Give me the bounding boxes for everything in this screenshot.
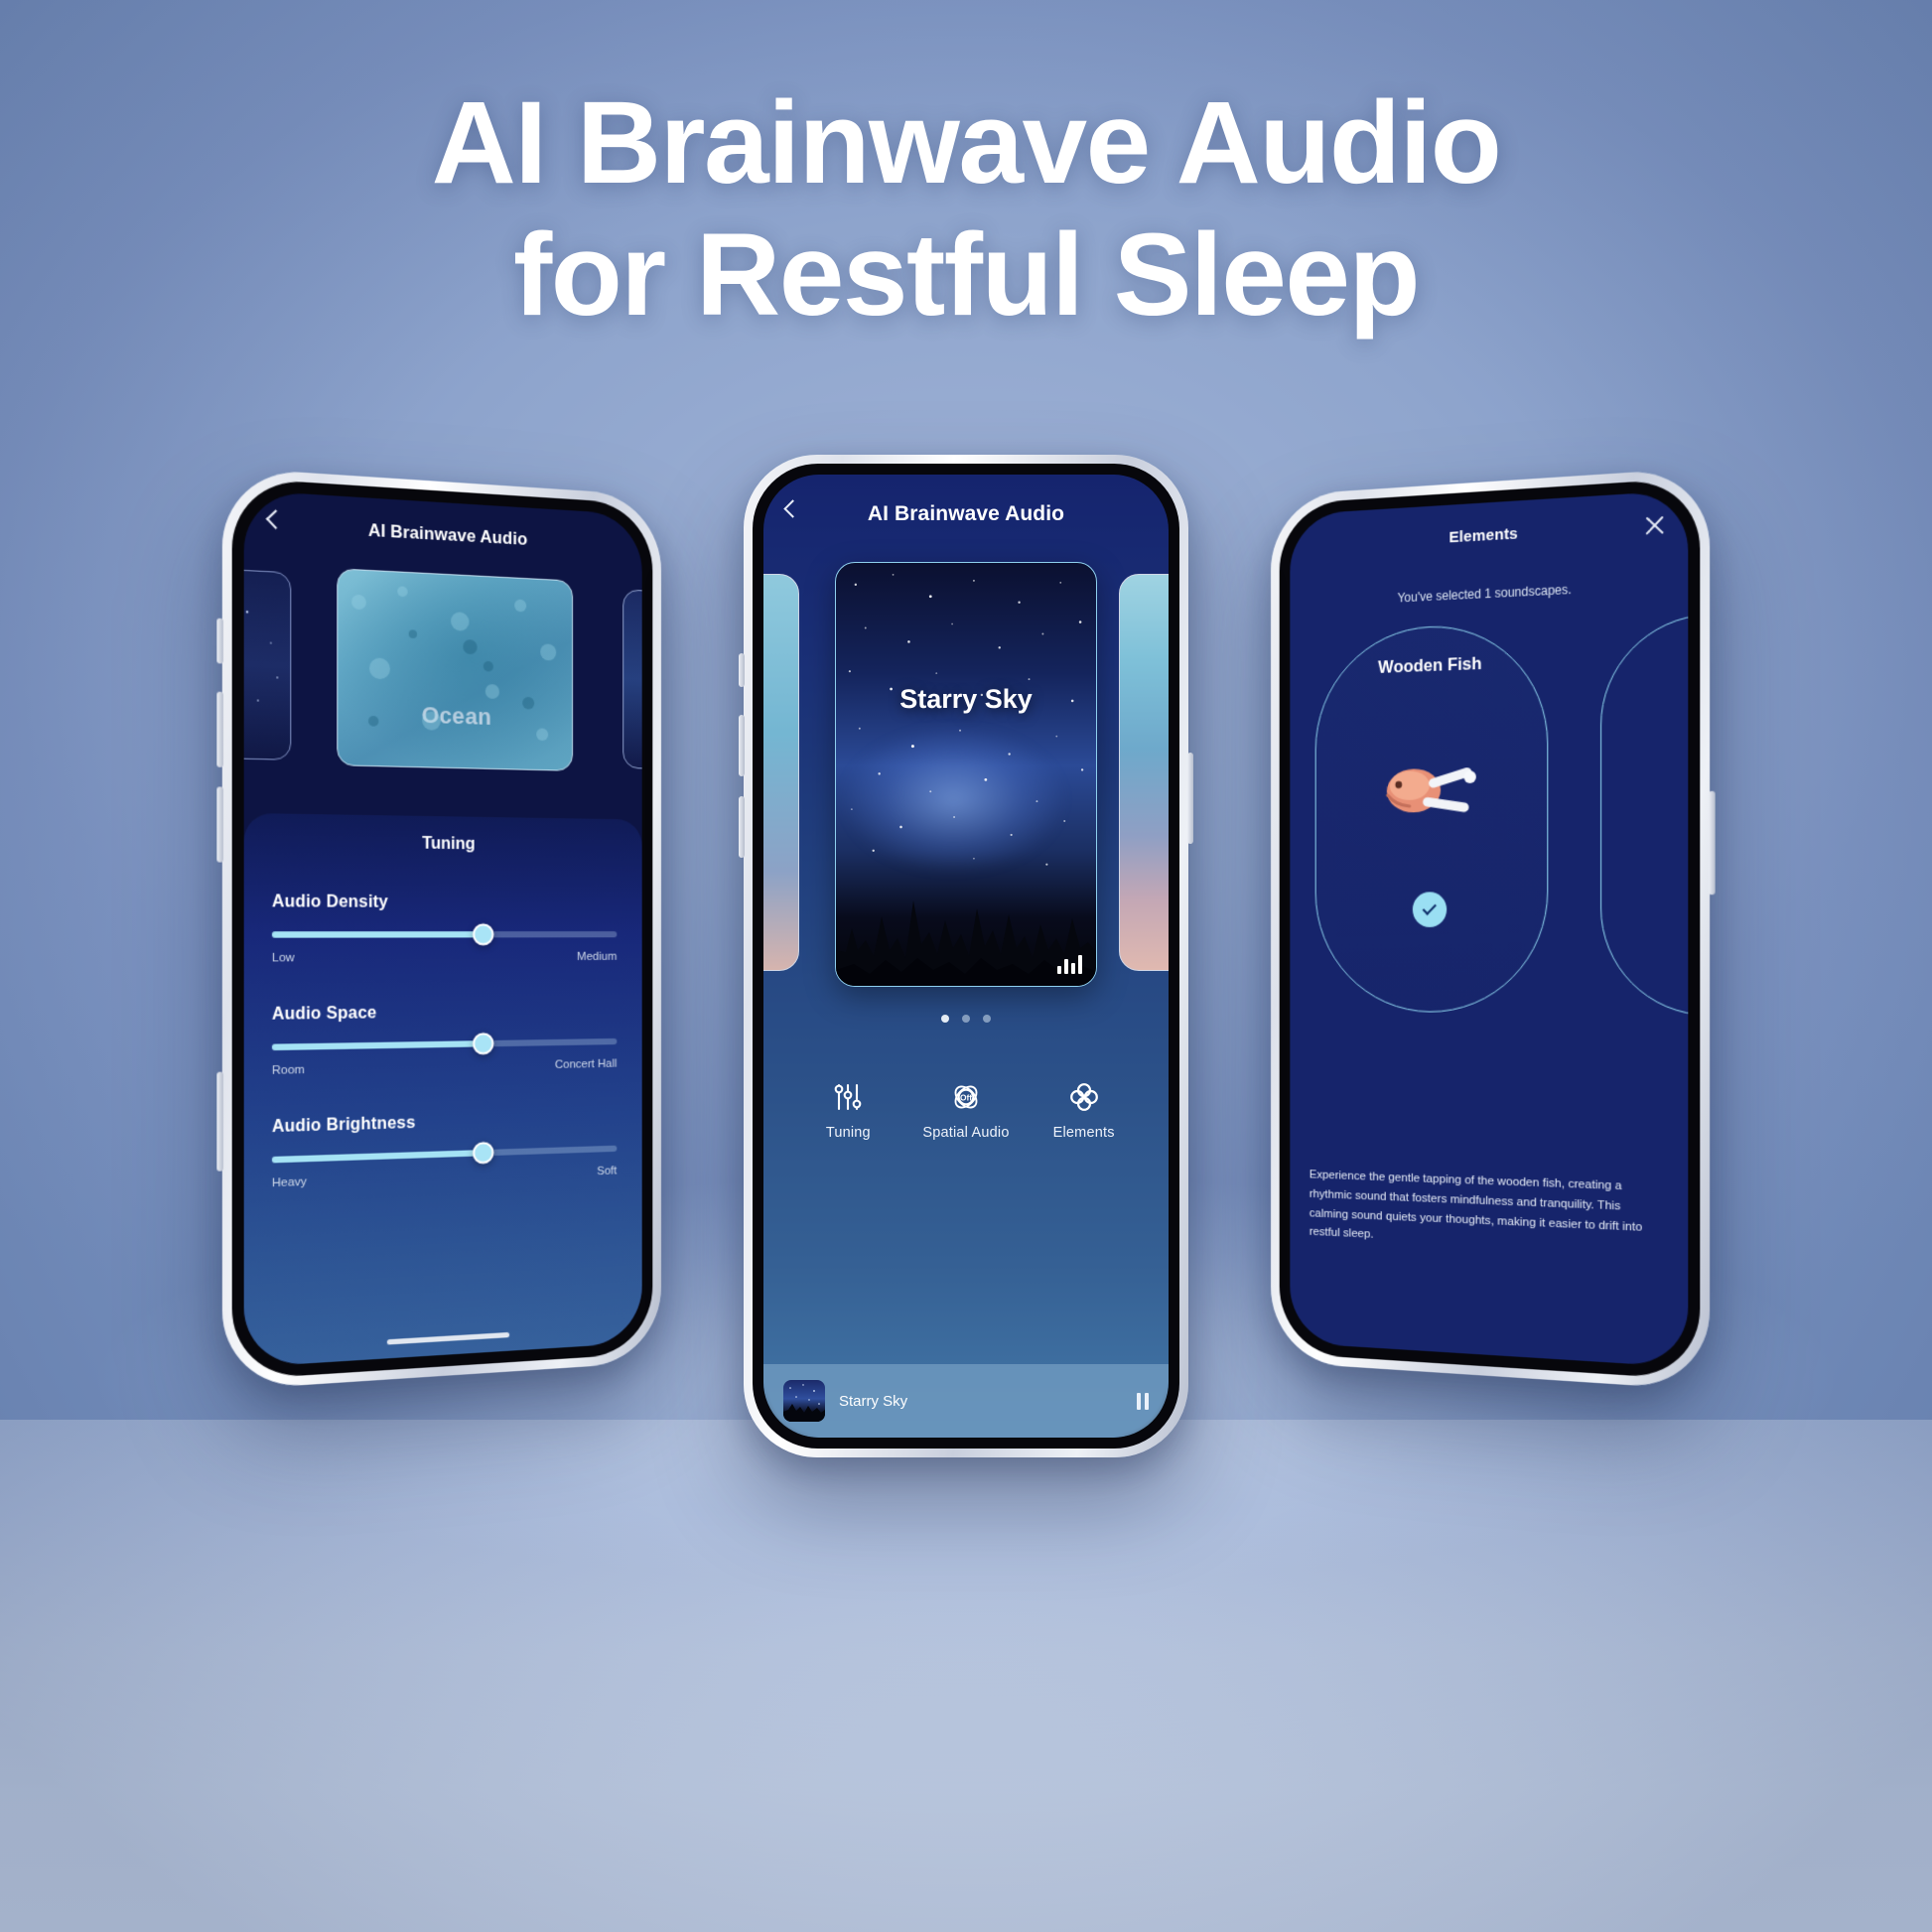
spatial-audio-button[interactable]: Off Spatial Audio: [911, 1080, 1021, 1141]
power-button[interactable]: [1187, 753, 1193, 844]
phone-screen-right: Elements You've selected 1 soundscapes. …: [1290, 490, 1688, 1368]
chevron-left-icon: [783, 499, 801, 517]
soundscape-card-starry-sky[interactable]: Starry Sky: [835, 562, 1097, 987]
action-label: Spatial Audio: [922, 1125, 1009, 1141]
chevron-left-icon: [266, 509, 286, 529]
soundscape-card-next[interactable]: [1119, 574, 1169, 971]
svg-text:Off: Off: [960, 1092, 972, 1102]
spatial-audio-off-icon: Off: [949, 1080, 983, 1114]
slider-scale: Room Concert Hall: [272, 1057, 617, 1077]
slider-track[interactable]: [272, 1146, 617, 1164]
phone-screen-center: AI Brainwave Audio: [763, 475, 1169, 1438]
slider-label: Audio Density: [272, 893, 617, 912]
element-description: Experience the gentle tapping of the woo…: [1310, 1166, 1667, 1259]
element-select-button[interactable]: [1413, 892, 1447, 927]
soundscape-carousel[interactable]: Ocean: [244, 563, 642, 772]
soundscape-card-next[interactable]: [622, 589, 641, 770]
nav-title: AI Brainwave Audio: [868, 502, 1064, 526]
elements-list: Wooden Fish: [1290, 615, 1688, 1024]
starfield-decor-icon: [244, 566, 292, 760]
soundscape-card-prev[interactable]: [763, 574, 799, 971]
equalizer-icon: [1057, 954, 1082, 974]
close-icon: [1643, 513, 1667, 538]
phone-bezel: Elements You've selected 1 soundscapes. …: [1280, 478, 1701, 1380]
slider-label: Audio Brightness: [272, 1109, 617, 1138]
phone-bezel: AI Brainwave Audio: [232, 478, 653, 1380]
slider-audio-density[interactable]: Audio Density Low Medium: [272, 893, 617, 964]
selection-status: You've selected 1 soundscapes.: [1290, 576, 1688, 610]
carousel-dot[interactable]: [983, 1015, 991, 1023]
power-button[interactable]: [216, 1072, 223, 1172]
slider-fill: [272, 1150, 483, 1163]
slider-label: Audio Space: [272, 1002, 617, 1025]
sliders-icon: [831, 1080, 865, 1114]
back-button[interactable]: [781, 502, 805, 526]
page-title: AI Brainwave Audio for Restful Sleep: [0, 77, 1932, 343]
slider-max-label: Soft: [597, 1165, 617, 1177]
pause-button[interactable]: [1137, 1393, 1149, 1410]
carousel-dots[interactable]: [763, 1015, 1169, 1023]
element-name: Wooden Fish: [1378, 654, 1481, 678]
volume-down-button[interactable]: [739, 796, 745, 858]
phone-mockup-left: AI Brainwave Audio: [222, 468, 661, 1391]
back-button[interactable]: [263, 511, 289, 538]
starry-sky-thumbnail: [783, 1380, 825, 1422]
navigation-bar: AI Brainwave Audio: [244, 490, 642, 578]
action-label: Tuning: [826, 1125, 871, 1141]
ocean-texture-icon: [338, 569, 573, 770]
soundscape-card-label: Starry Sky: [836, 684, 1096, 715]
tuning-sheet-title: Tuning: [272, 833, 617, 856]
elements-button[interactable]: Elements: [1030, 1080, 1139, 1141]
phone-mockup-center: AI Brainwave Audio: [744, 455, 1188, 1457]
slider-track[interactable]: [272, 1038, 617, 1050]
tuning-sheet: Tuning Audio Density Low Medium: [244, 813, 642, 1367]
slider-max-label: Medium: [577, 951, 617, 964]
wooden-fish-icon: [1366, 739, 1494, 841]
soundscape-card-prev[interactable]: [244, 565, 292, 760]
slider-knob[interactable]: [473, 1033, 493, 1054]
thumbnail-art-icon: [783, 1380, 825, 1422]
action-bar: Tuning Off Spatial Audio: [763, 1080, 1169, 1141]
headline-line-1: AI Brainwave Audio: [0, 77, 1932, 209]
mute-switch[interactable]: [216, 619, 223, 664]
nav-title: AI Brainwave Audio: [368, 520, 527, 549]
mini-player[interactable]: Starry Sky: [763, 1364, 1169, 1438]
tuning-button[interactable]: Tuning: [793, 1080, 902, 1141]
close-button[interactable]: [1643, 513, 1667, 538]
mute-switch[interactable]: [739, 653, 745, 687]
elements-clover-icon: [1067, 1080, 1101, 1114]
nav-title: Elements: [1449, 524, 1518, 546]
phone-mockup-right: Elements You've selected 1 soundscapes. …: [1271, 468, 1710, 1391]
slider-min-label: Low: [272, 952, 295, 965]
mini-player-track-name: Starry Sky: [839, 1393, 1123, 1410]
volume-down-button[interactable]: [216, 786, 223, 862]
carousel-dot[interactable]: [941, 1015, 949, 1023]
navigation-bar: Elements: [1290, 490, 1688, 578]
slider-fill: [272, 1040, 483, 1050]
slider-max-label: Concert Hall: [555, 1057, 617, 1071]
soundscape-card-ocean[interactable]: Ocean: [337, 568, 573, 771]
slider-fill: [272, 931, 483, 938]
element-card-wooden-fish[interactable]: Wooden Fish: [1315, 621, 1549, 1014]
check-icon: [1422, 900, 1436, 915]
slider-knob[interactable]: [473, 923, 493, 945]
slider-scale: Heavy Soft: [272, 1165, 617, 1189]
navigation-bar: AI Brainwave Audio: [763, 475, 1169, 554]
volume-up-button[interactable]: [739, 715, 745, 776]
headline-line-2: for Restful Sleep: [0, 209, 1932, 342]
slider-track[interactable]: [272, 931, 617, 938]
element-card-next[interactable]: [1600, 610, 1688, 1018]
home-indicator: [387, 1332, 509, 1345]
slider-knob[interactable]: [473, 1142, 493, 1165]
slider-audio-space[interactable]: Audio Space Room Concert Hall: [272, 1002, 617, 1077]
slider-min-label: Heavy: [272, 1175, 307, 1189]
soundscape-carousel[interactable]: Starry Sky: [763, 560, 1169, 989]
power-button[interactable]: [1709, 791, 1716, 896]
volume-up-button[interactable]: [216, 692, 223, 767]
slider-scale: Low Medium: [272, 951, 617, 965]
phone-screen-left: AI Brainwave Audio: [244, 490, 642, 1368]
slider-audio-brightness[interactable]: Audio Brightness Heavy Soft: [272, 1109, 617, 1190]
phone-bezel: AI Brainwave Audio: [753, 464, 1179, 1449]
carousel-dot[interactable]: [962, 1015, 970, 1023]
action-label: Elements: [1053, 1125, 1115, 1141]
slider-min-label: Room: [272, 1063, 305, 1077]
